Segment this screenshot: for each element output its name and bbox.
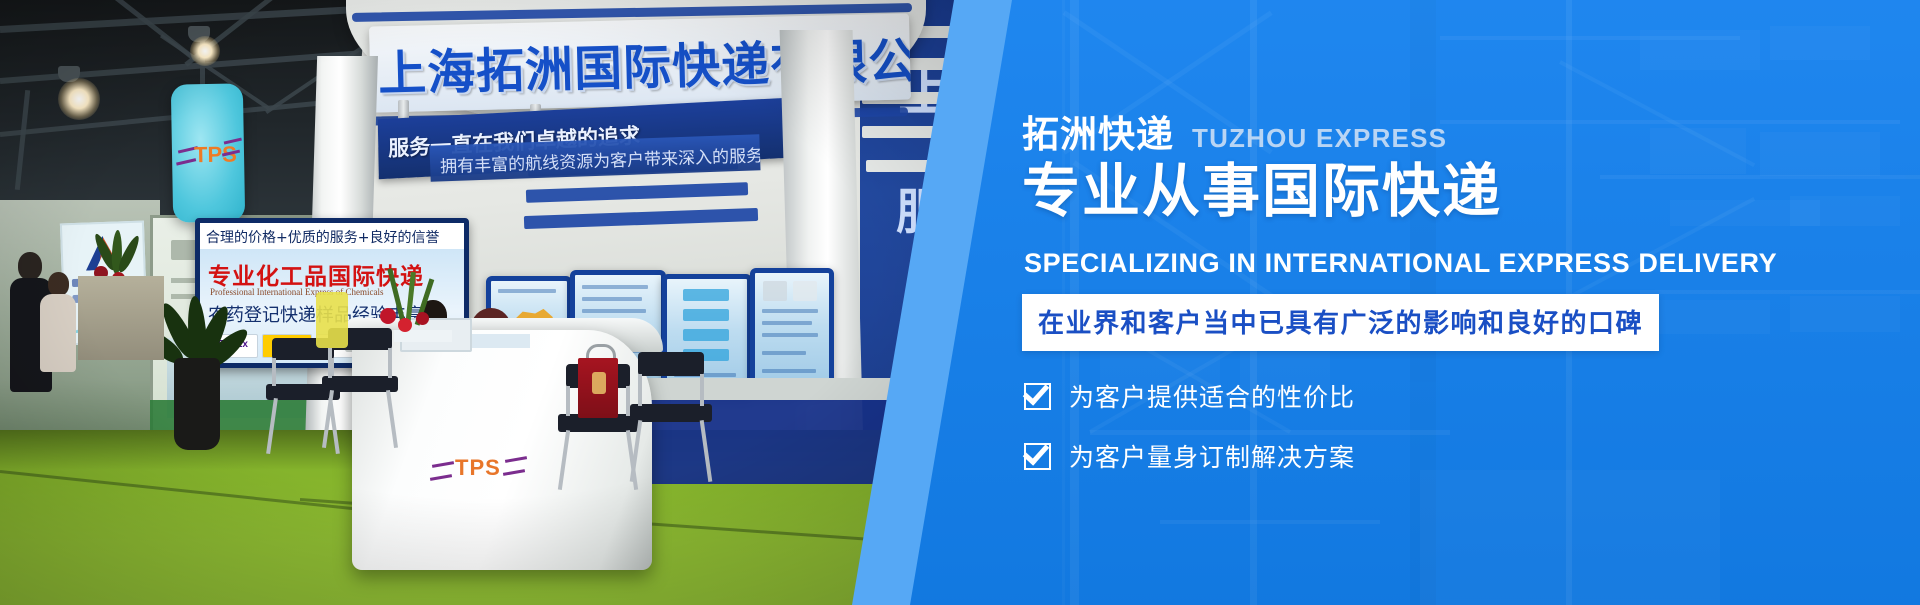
- brand-name-cn: 拓洲快递: [1022, 116, 1174, 153]
- brand-row: 拓洲快递 TUZHOU EXPRESS: [1022, 116, 1447, 153]
- bullet-list: 为客户提供适合的性价比 为客户量身订制解决方案: [1024, 378, 1355, 498]
- checkbox-checked-icon: [1024, 443, 1051, 470]
- hero-banner: 上 服 上海拓洲国际快递有限公司 服务一直在我们卓越的追求 拥有丰富的航线资源为…: [0, 0, 1920, 605]
- checkbox-checked-icon: [1024, 383, 1051, 410]
- brand-name-en: TUZHOU EXPRESS: [1192, 125, 1447, 153]
- bullet-label: 为客户提供适合的性价比: [1069, 378, 1355, 414]
- bullet-item: 为客户提供适合的性价比: [1024, 378, 1355, 414]
- banner-content: 拓洲快递 TUZHOU EXPRESS 专业从事国际快递 SPECIALIZIN…: [1022, 0, 1882, 605]
- tagline-text: 在业界和客户当中已具有广泛的影响和良好的口碑: [1038, 309, 1643, 339]
- tagline-box: 在业界和客户当中已具有广泛的影响和良好的口碑: [1022, 294, 1659, 351]
- headline-cn: 专业从事国际快递: [1022, 160, 1502, 224]
- bullet-item: 为客户量身订制解决方案: [1024, 438, 1355, 474]
- headline-en: SPECIALIZING IN INTERNATIONAL EXPRESS DE…: [1024, 248, 1777, 279]
- bullet-label: 为客户量身订制解决方案: [1069, 438, 1355, 474]
